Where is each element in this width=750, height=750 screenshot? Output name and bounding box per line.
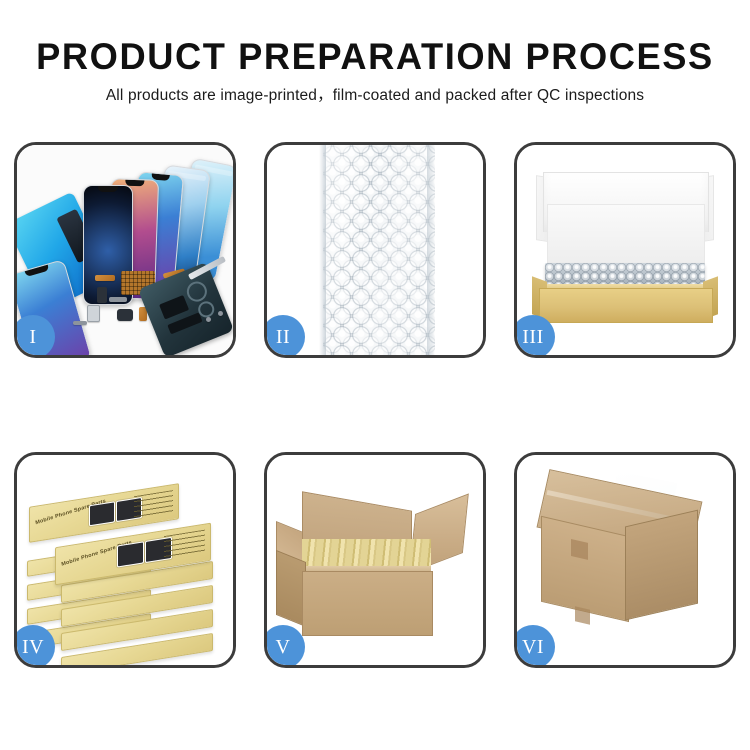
step-numeral: IV bbox=[22, 636, 44, 659]
bubble-wrap-photo: II bbox=[267, 145, 483, 355]
step-numeral: I bbox=[29, 326, 36, 349]
bracket-part bbox=[109, 297, 127, 302]
small-bracket-part bbox=[73, 321, 87, 325]
step-numeral: II bbox=[276, 326, 290, 349]
step-badge-5: V bbox=[267, 625, 305, 665]
step-numeral: III bbox=[522, 326, 543, 349]
process-step-panel-3[interactable]: III bbox=[514, 142, 736, 358]
open-carton-photo: V bbox=[267, 455, 483, 665]
phone-parts-photo: I bbox=[17, 145, 233, 355]
box-front-panel bbox=[539, 288, 714, 324]
plastic-sheen bbox=[323, 145, 435, 355]
carton-right-face bbox=[625, 510, 698, 621]
process-step-panel-2[interactable]: II bbox=[264, 142, 486, 358]
process-step-panel-4[interactable]: Mobile Phone Spare Parts Mobile Phone Sp… bbox=[14, 452, 236, 668]
step-badge-6: VI bbox=[517, 625, 555, 665]
speaker-part bbox=[117, 309, 133, 321]
screen-protector-part bbox=[87, 305, 100, 322]
step-numeral: VI bbox=[522, 636, 544, 659]
process-step-grid: I II bbox=[14, 142, 736, 702]
page-title: PRODUCT PREPARATION PROCESS bbox=[8, 0, 743, 75]
screw-part bbox=[218, 311, 223, 316]
foam-liner bbox=[547, 204, 705, 269]
screw-part bbox=[206, 317, 211, 322]
carton-tab-bottom bbox=[575, 607, 590, 625]
kraft-box-stacked bbox=[61, 645, 213, 663]
process-step-panel-5[interactable]: V bbox=[264, 452, 486, 668]
bubble-wrap-sheet bbox=[323, 145, 435, 355]
header: PRODUCT PREPARATION PROCESS All products… bbox=[0, 0, 750, 104]
process-step-panel-6[interactable]: VI bbox=[514, 452, 736, 668]
sheet-edge-right bbox=[427, 145, 435, 355]
step-badge-2: II bbox=[267, 315, 305, 355]
sealed-carton-photo: VI bbox=[517, 455, 733, 665]
ic-chip bbox=[159, 295, 189, 320]
kraft-box-labeled-1: Mobile Phone Spare Parts bbox=[29, 495, 179, 531]
kraft-box-labeled-2: Mobile Phone Spare Parts bbox=[55, 535, 211, 573]
sheet-edge-left bbox=[319, 145, 326, 355]
product-preparation-infographic: PRODUCT PREPARATION PROCESS All products… bbox=[0, 0, 750, 750]
page-subtitle: All products are image-printed，film-coat… bbox=[0, 75, 750, 104]
carton-front-face bbox=[541, 516, 629, 622]
notch bbox=[98, 186, 118, 192]
inner-box-photo: III bbox=[517, 145, 733, 355]
process-step-panel-1[interactable]: I bbox=[14, 142, 236, 358]
carton-front-face bbox=[302, 571, 434, 636]
stacked-boxes-photo: Mobile Phone Spare Parts Mobile Phone Sp… bbox=[17, 455, 233, 665]
step-numeral: V bbox=[276, 636, 291, 659]
connector-part bbox=[95, 275, 115, 281]
camera-module-part bbox=[97, 287, 107, 303]
